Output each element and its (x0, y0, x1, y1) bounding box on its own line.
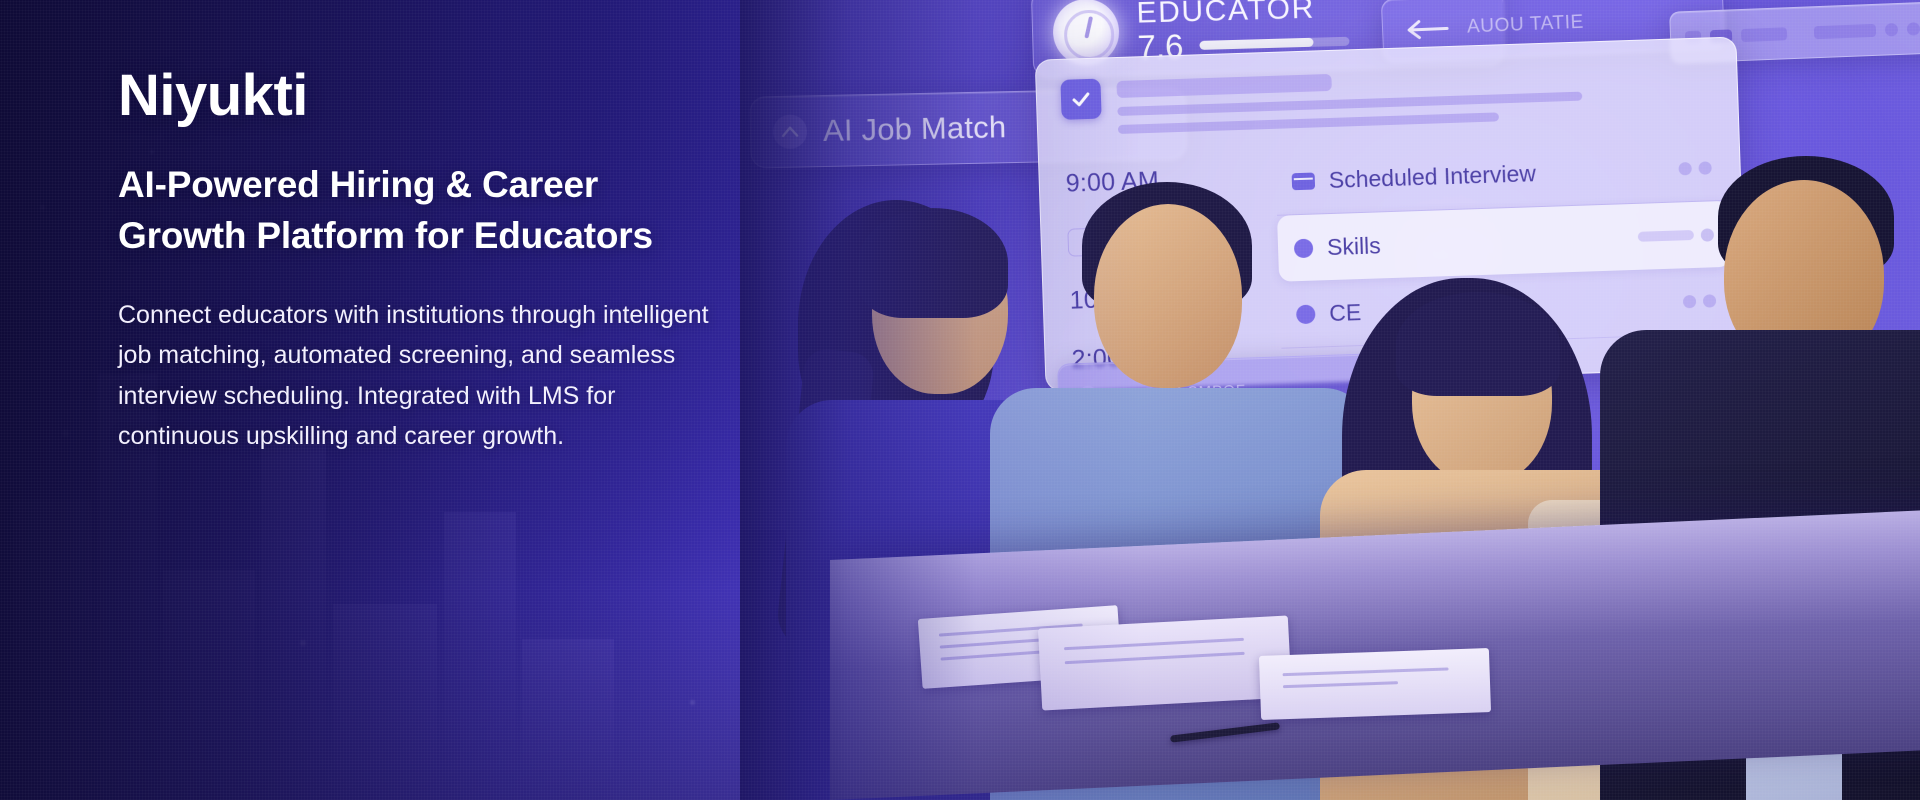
hero-headline: AI-Powered Hiring & Career Growth Platfo… (118, 160, 698, 261)
hero-photo: EDUCATOR 7.6 AI Job Match AUOU TATIE (740, 0, 1920, 800)
hero-copy: Niyukti AI-Powered Hiring & Career Growt… (118, 66, 758, 457)
document-sheet (1259, 648, 1491, 720)
brand-title: Niyukti (118, 66, 758, 126)
hero-banner: EDUCATOR 7.6 AI Job Match AUOU TATIE (0, 0, 1920, 800)
hero-description: Connect educators with institutions thro… (118, 295, 718, 457)
document-stack (1038, 616, 1292, 711)
